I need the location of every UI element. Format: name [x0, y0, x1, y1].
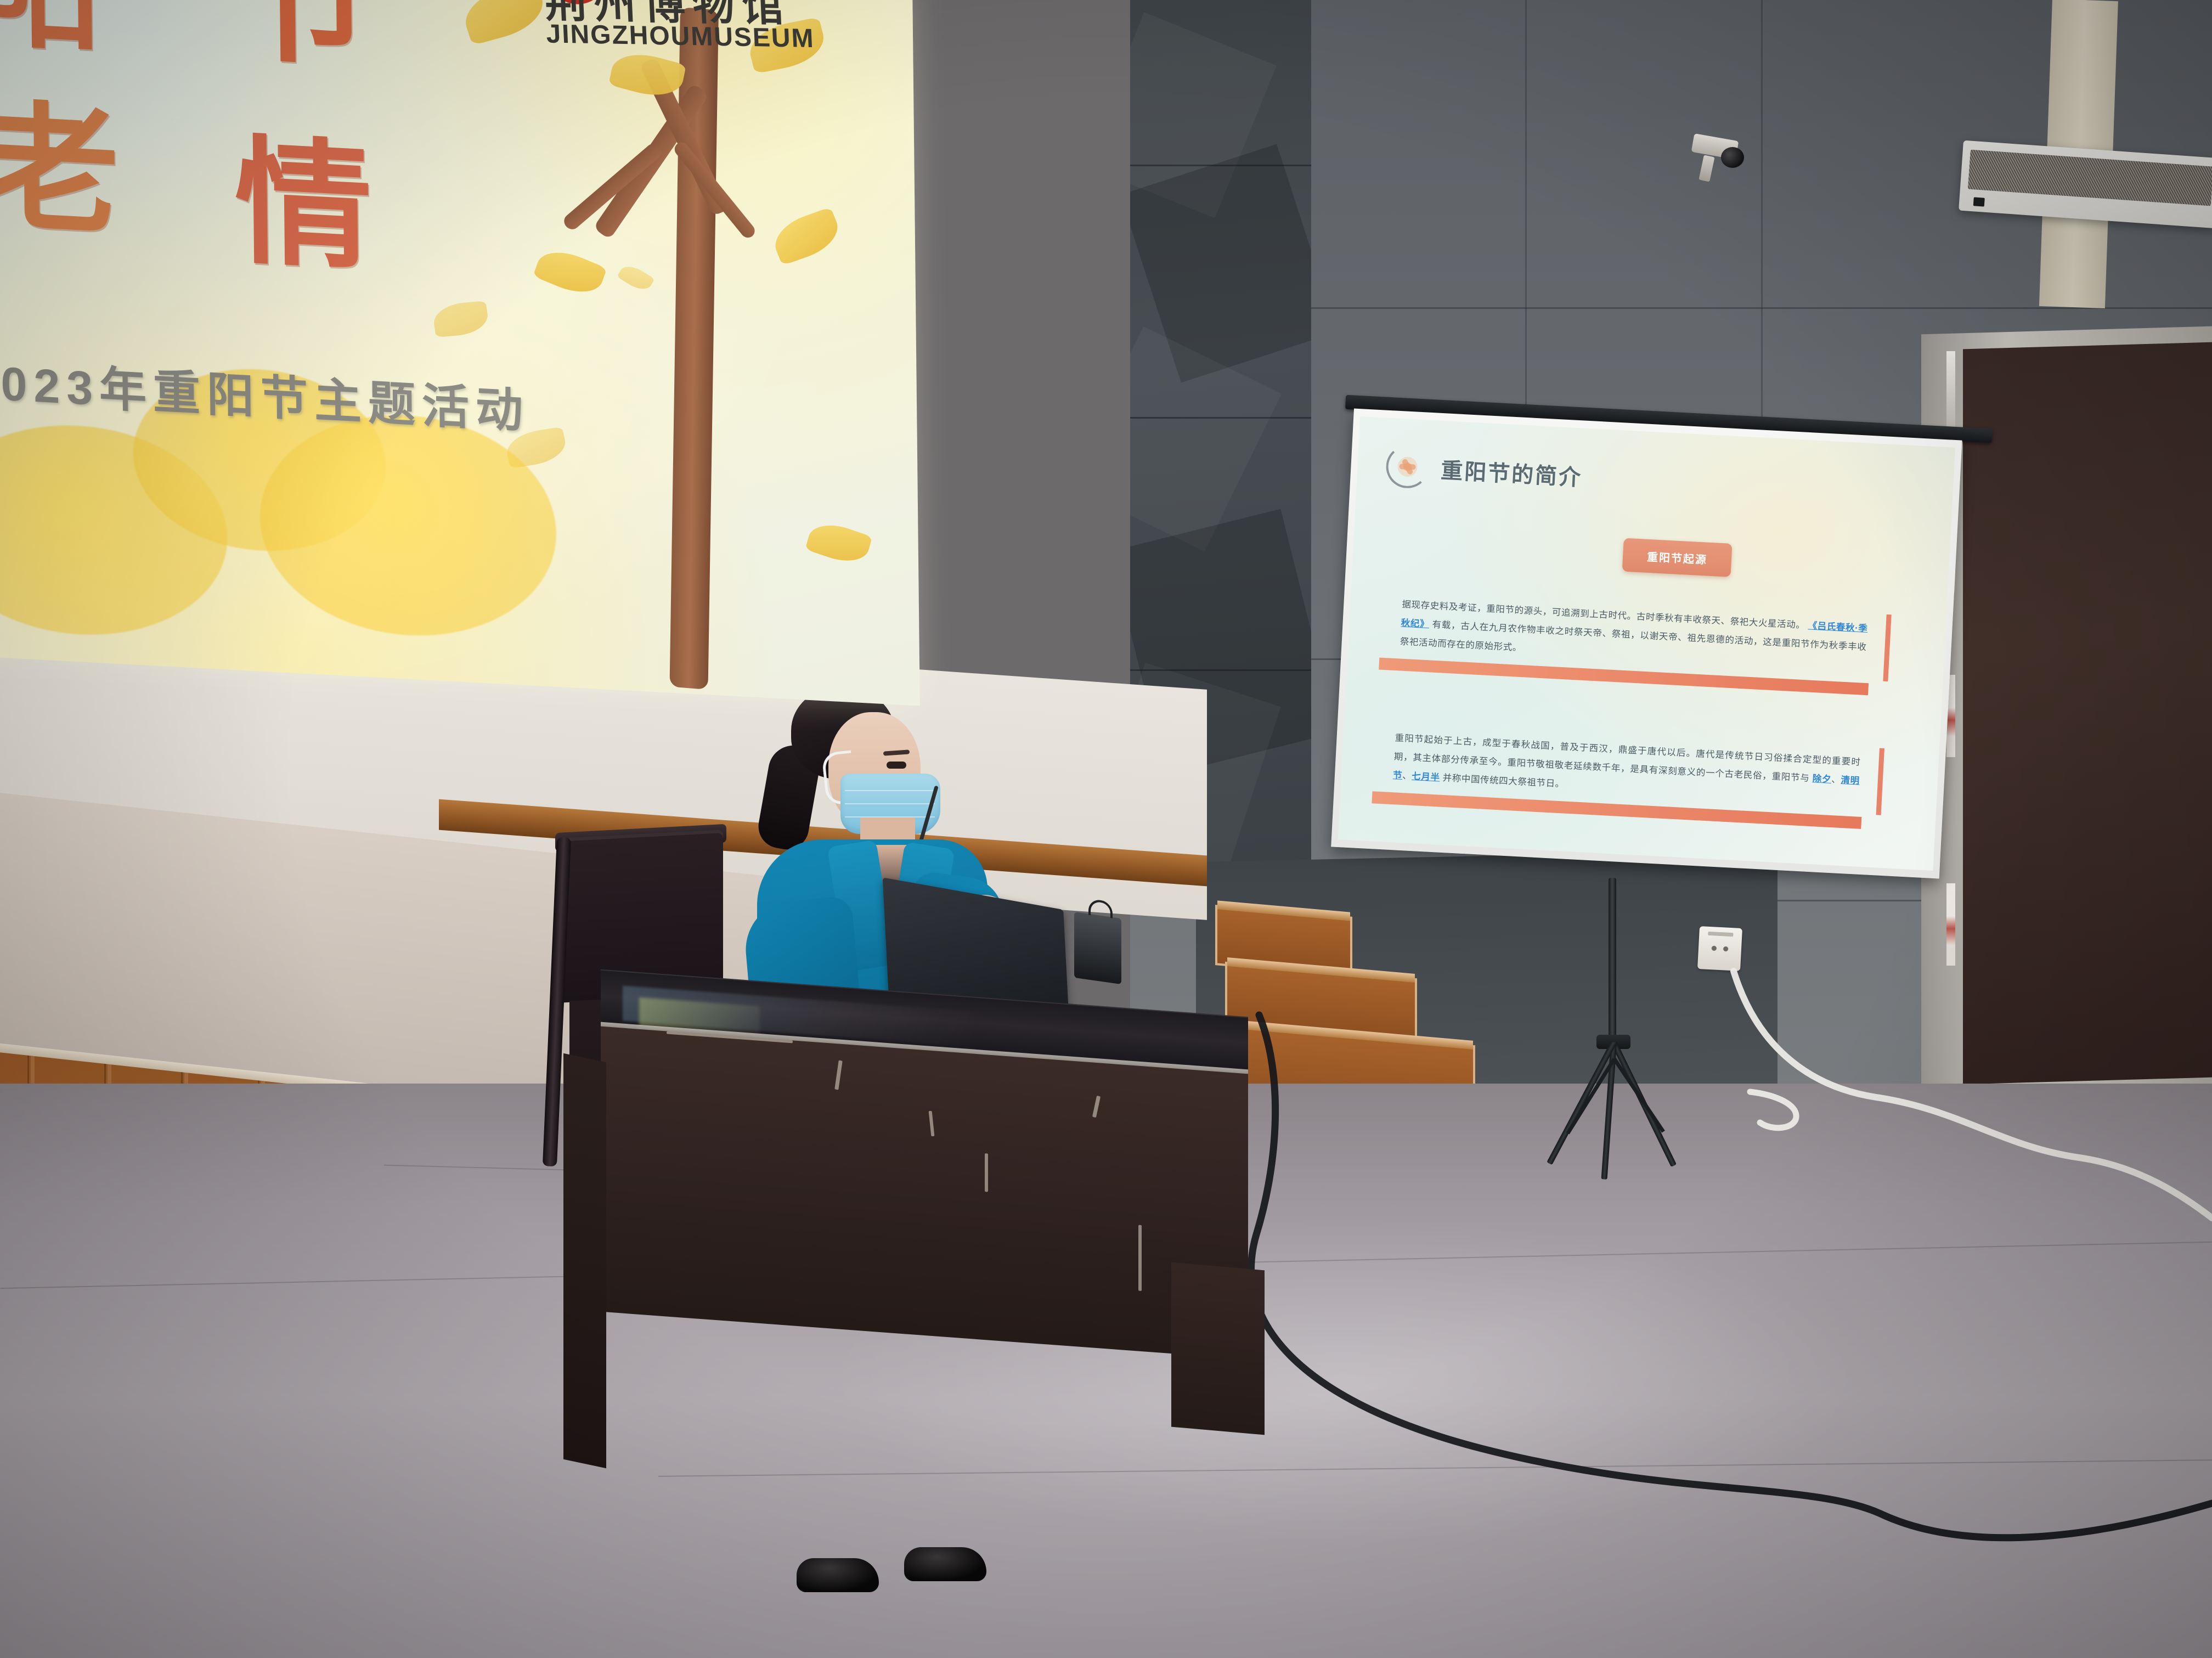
slide-header: 重阳节的简介 [1385, 444, 1584, 498]
tripod-stand [1448, 878, 1788, 1185]
museum-name-en: JINGZHOUMUSEUM [545, 19, 854, 54]
projected-title-banner: 阳 节 老 情 2023年重阳节主题活动 荆州博物馆 JINGZHOUMUSEU… [0, 0, 920, 706]
calligraphy-char-4: 情 [234, 132, 373, 277]
paragraph-2-link-3[interactable]: 七月半 [1412, 771, 1440, 783]
calligraphy-char-2: 节 [232, 0, 371, 74]
door-edge-strip [1946, 351, 1955, 433]
calligraphy-char-1: 阳 [0, 0, 101, 59]
photo-scene: 重阳节的简介 重阳节起源 据现存史料及考证，重阳节的源头，可追溯到上古时代。古时… [0, 0, 2212, 1658]
slide-section-badge: 重阳节起源 [1622, 538, 1733, 577]
desk-side-panel-right [1171, 1262, 1265, 1435]
paragraph-2-link-1[interactable]: 除夕 [1812, 774, 1831, 785]
slide-title: 重阳节的简介 [1440, 453, 1583, 492]
museum-logo: 荆州博物馆 JINGZHOUMUSEUM [543, 0, 855, 72]
calligraphy-char-3: 老 [0, 97, 120, 241]
vent-grille [1968, 150, 2212, 206]
presenter-receiver [1074, 912, 1121, 984]
vent-indicator [1973, 197, 1985, 206]
wooden-door[interactable] [1963, 342, 2212, 1085]
slide-paragraph-2-block: 重阳节起始于上古，成型于春秋战国，普及于西汉，鼎盛于唐代以后。唐代是传统节日习俗… [1366, 725, 1890, 816]
chrysanthemum-badge-icon [1385, 444, 1430, 489]
desk-side-panel-left [563, 1053, 606, 1469]
security-camera-icon [1687, 132, 1758, 198]
beige-pillar-lower [2039, 207, 2108, 308]
paragraph-2-text-b: 并称中国传统四大祭祖节日。 [1442, 773, 1565, 789]
projector-screen: 重阳节的简介 重阳节起源 据现存史料及考证，重阳节的源头，可追溯到上古时代。古时… [1321, 395, 1992, 900]
eye [887, 762, 906, 769]
slide-paragraph-1-block: 据现存史料及考证，重阳节的源头，可追溯到上古时代。古时季秋有丰收祭天、祭祀大火星… [1373, 591, 1897, 683]
screen-surface: 重阳节的简介 重阳节起源 据现存史料及考证，重阳节的源头，可追溯到上古时代。古时… [1331, 409, 1962, 879]
desk [601, 993, 1259, 1602]
presentation-slide: 重阳节的简介 重阳节起源 据现存史料及考证，重阳节的源头，可追溯到上古时代。古时… [1338, 416, 1955, 871]
desk-front-panel [601, 1027, 1248, 1360]
